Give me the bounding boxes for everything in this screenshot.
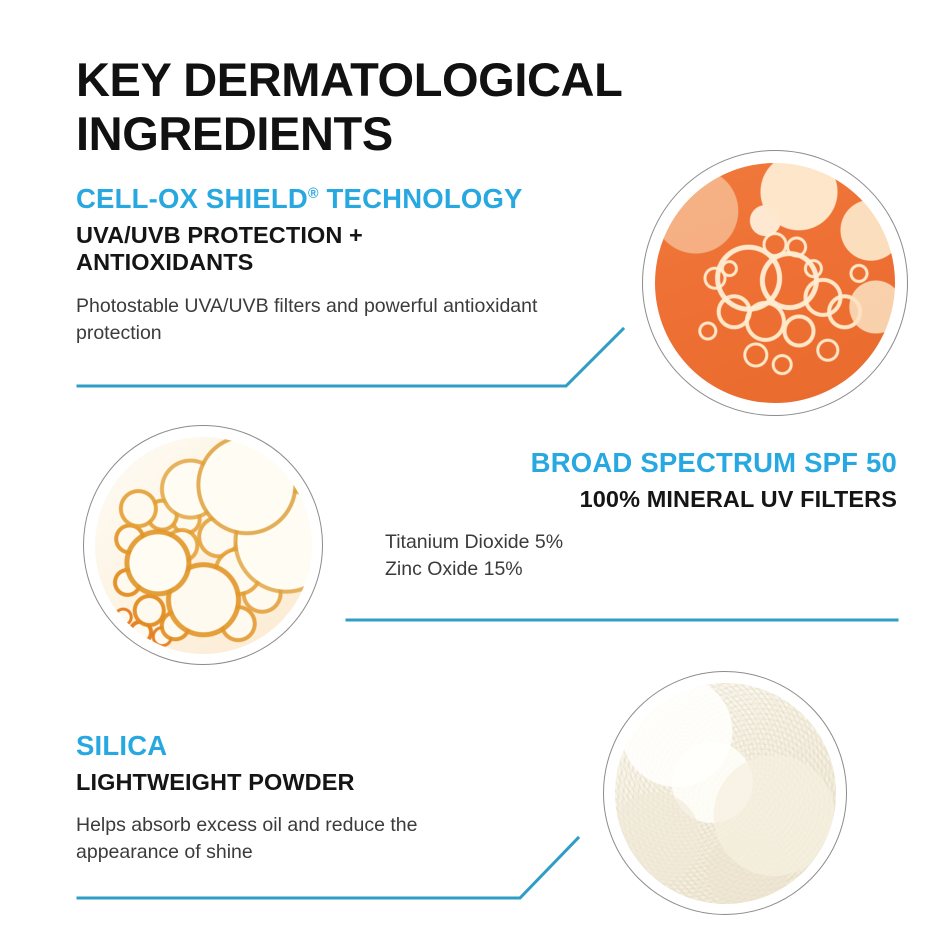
section-2-body-line-2: Zinc Oxide 15% xyxy=(385,556,897,583)
section-2-body: Titanium Dioxide 5% Zinc Oxide 15% xyxy=(385,529,897,583)
ingredient-image-broad-spectrum xyxy=(83,425,323,665)
section-1-eyebrow-text: CELL-OX SHIELD xyxy=(76,183,308,214)
section-1-eyebrow: CELL-OX SHIELD® TECHNOLOGY xyxy=(76,183,666,215)
section-1-subhead: UVA/UVB PROTECTION + ANTIOXIDANTS xyxy=(76,222,506,277)
section-broad-spectrum: BROAD SPECTRUM SPF 50 100% MINERAL UV FI… xyxy=(337,447,897,583)
ingredient-image-silica xyxy=(603,671,847,915)
section-silica: SILICA LIGHTWEIGHT POWDER Helps absorb e… xyxy=(76,730,596,866)
section-1-body: Photostable UVA/UVB filters and powerful… xyxy=(76,293,546,347)
section-2-eyebrow: BROAD SPECTRUM SPF 50 xyxy=(337,447,897,479)
section-1-eyebrow-tail: TECHNOLOGY xyxy=(319,183,523,214)
silica-powder-texture xyxy=(615,683,836,904)
section-3-body: Helps absorb excess oil and reduce the a… xyxy=(76,812,516,866)
page-title: KEY DERMATOLOGICAL INGREDIENTS xyxy=(76,53,776,159)
ingredients-infographic: KEY DERMATOLOGICAL INGREDIENTS CELL-OX S… xyxy=(0,0,930,930)
oil-droplets-texture xyxy=(655,163,895,403)
section-3-eyebrow: SILICA xyxy=(76,730,596,762)
section-2-subhead: 100% MINERAL UV FILTERS xyxy=(337,486,897,513)
plant-cell-texture xyxy=(95,437,312,654)
section-cell-ox-shield: CELL-OX SHIELD® TECHNOLOGY UVA/UVB PROTE… xyxy=(76,183,666,347)
section-2-body-line-1: Titanium Dioxide 5% xyxy=(385,529,897,556)
section-3-subhead: LIGHTWEIGHT POWDER xyxy=(76,769,596,796)
registered-trademark-icon: ® xyxy=(308,186,319,202)
ingredient-image-cell-ox-shield xyxy=(642,150,908,416)
